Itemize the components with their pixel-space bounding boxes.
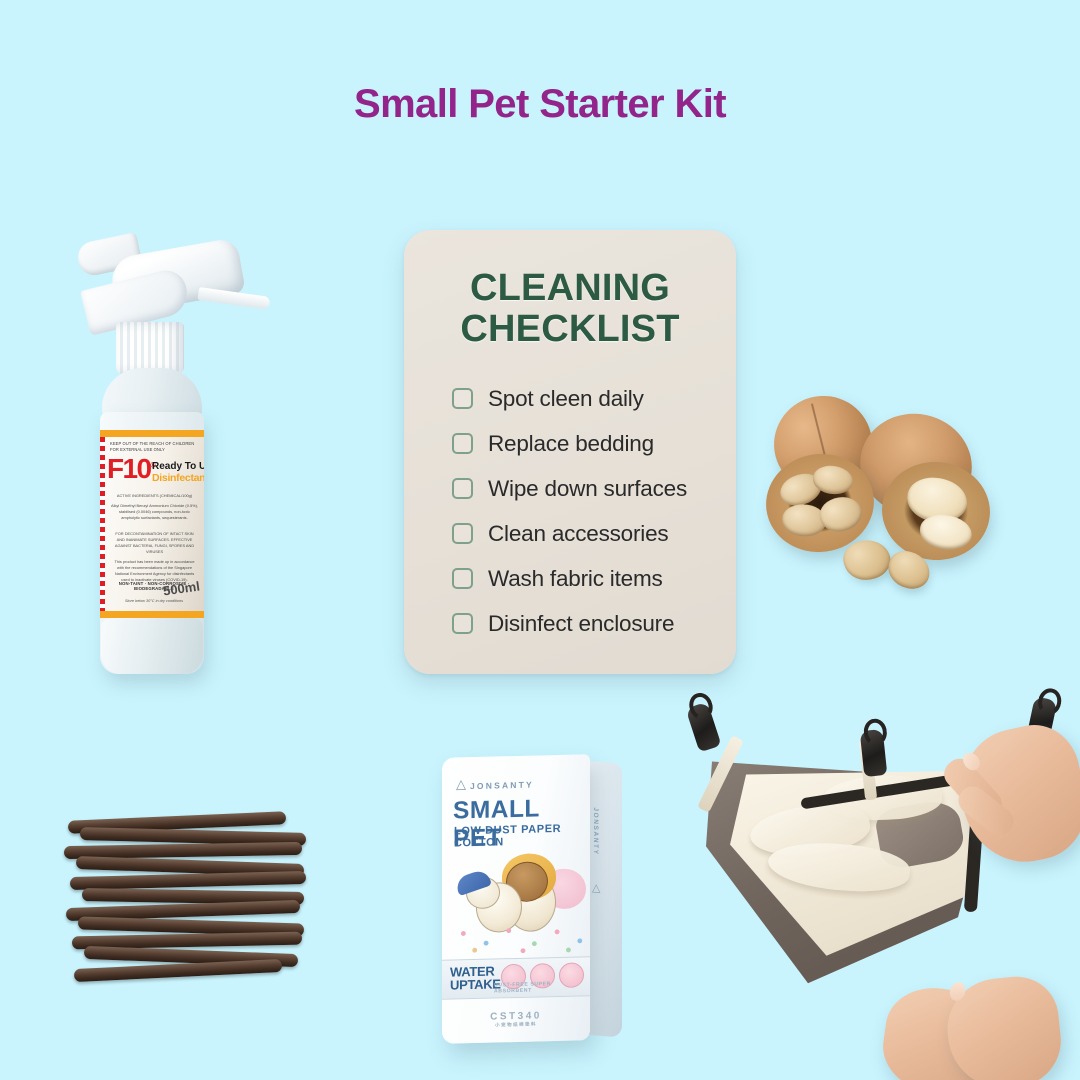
checkbox-icon[interactable] (452, 613, 473, 634)
product-bedding-package: JONSANTY △ △ JONSANTY SMALL PET LOW DUST… (432, 748, 632, 1048)
walnut-kernel (918, 513, 973, 552)
bedding-dots-pattern (452, 920, 590, 957)
checkbox-icon[interactable] (452, 568, 473, 589)
list-item-label: Wash fabric items (488, 566, 663, 592)
checklist-heading-line1: CLEANING (404, 268, 736, 309)
label-storage: Store below 30°C in dry conditions (109, 599, 199, 603)
spray-bottle-label: KEEP OUT OF THE REACH OF CHILDREN FOR EX… (100, 430, 204, 618)
product-walnuts (764, 392, 1014, 622)
label-warning-text: KEEP OUT OF THE REACH OF CHILDREN FOR EX… (110, 441, 201, 453)
package-illustration (448, 846, 588, 957)
list-item[interactable]: Wash fabric items (452, 556, 736, 601)
checklist-heading-line2: CHECKLIST (404, 309, 736, 350)
checklist-heading: CLEANING CHECKLIST (404, 268, 736, 350)
cleaning-checklist-card: CLEANING CHECKLIST Spot cleen daily Repl… (404, 230, 736, 674)
list-item-label: Disinfect enclosure (488, 611, 674, 637)
product-chew-sticks (62, 812, 312, 988)
checklist-items: Spot cleen daily Replace bedding Wipe do… (404, 376, 736, 646)
label-product-type: Disinfectant (152, 472, 204, 484)
label-tagline: Ready To Use (152, 461, 204, 472)
list-item-label: Clean accessories (488, 521, 668, 547)
list-item[interactable]: Replace bedding (452, 421, 736, 466)
product-spray-bottle: KEEP OUT OF THE REACH OF CHILDREN FOR EX… (60, 232, 300, 682)
label-brand-f10: F10® (107, 453, 154, 485)
package-product-code: CST340 小宠物纸棉垫料 (442, 1009, 590, 1030)
label-fine-print-1: ACTIVE INGREDIENTS (CHEMICAL/100g) (111, 493, 198, 499)
list-item-label: Wipe down surfaces (488, 476, 687, 502)
list-item[interactable]: Clean accessories (452, 511, 736, 556)
label-fine-print-2: Alkyl Dimethyl Benzyl Ammonium Chloride … (111, 503, 198, 521)
spray-bottle-collar (116, 322, 184, 374)
chew-stick (70, 871, 306, 890)
package-subtitle: LOW DUST PAPER COTTON (454, 822, 590, 849)
label-fine-print-3: FOR DECONTAMINATION OF INTACT SKIN AND I… (111, 531, 198, 555)
checkbox-icon[interactable] (452, 433, 473, 454)
hammock-clip-icon[interactable] (860, 729, 888, 777)
list-item[interactable]: Spot cleen daily (452, 376, 736, 421)
product-code-sub: 小宠物纸棉垫料 (442, 1020, 590, 1030)
package-feature-tagline: DUST-FREE SUPER ABSORBENT (494, 980, 590, 994)
spray-trigger-head (78, 234, 256, 330)
brand-logo-icon: △ (456, 777, 469, 790)
checkbox-icon[interactable] (452, 388, 473, 409)
spray-bottle-base (101, 618, 203, 674)
checkbox-icon[interactable] (452, 478, 473, 499)
list-item-label: Replace bedding (488, 431, 654, 457)
package-feature-band: WATER UPTAKE DUST-FREE SUPER ABSORBENT (442, 956, 590, 1000)
product-hammock (672, 696, 1080, 1080)
list-item-label: Spot cleen daily (488, 386, 644, 412)
package-side-brand: JONSANTY (592, 807, 599, 856)
hammock-clip-icon[interactable] (685, 702, 721, 753)
checkbox-icon[interactable] (452, 523, 473, 544)
package-brand: JONSANTY (470, 780, 534, 792)
package-front-panel: △ JONSANTY SMALL PET LOW DUST PAPER COTT… (442, 754, 590, 1044)
package-side-logo-icon: △ (592, 881, 600, 895)
walnut-kernel (816, 492, 866, 537)
poster-canvas: Small Pet Starter Kit KEEP OUT OF THE RE… (0, 0, 1080, 1080)
list-item[interactable]: Wipe down surfaces (452, 466, 736, 511)
list-item[interactable]: Disinfect enclosure (452, 601, 736, 646)
page-title: Small Pet Starter Kit (0, 82, 1080, 127)
brand-text: F10 (107, 453, 150, 484)
